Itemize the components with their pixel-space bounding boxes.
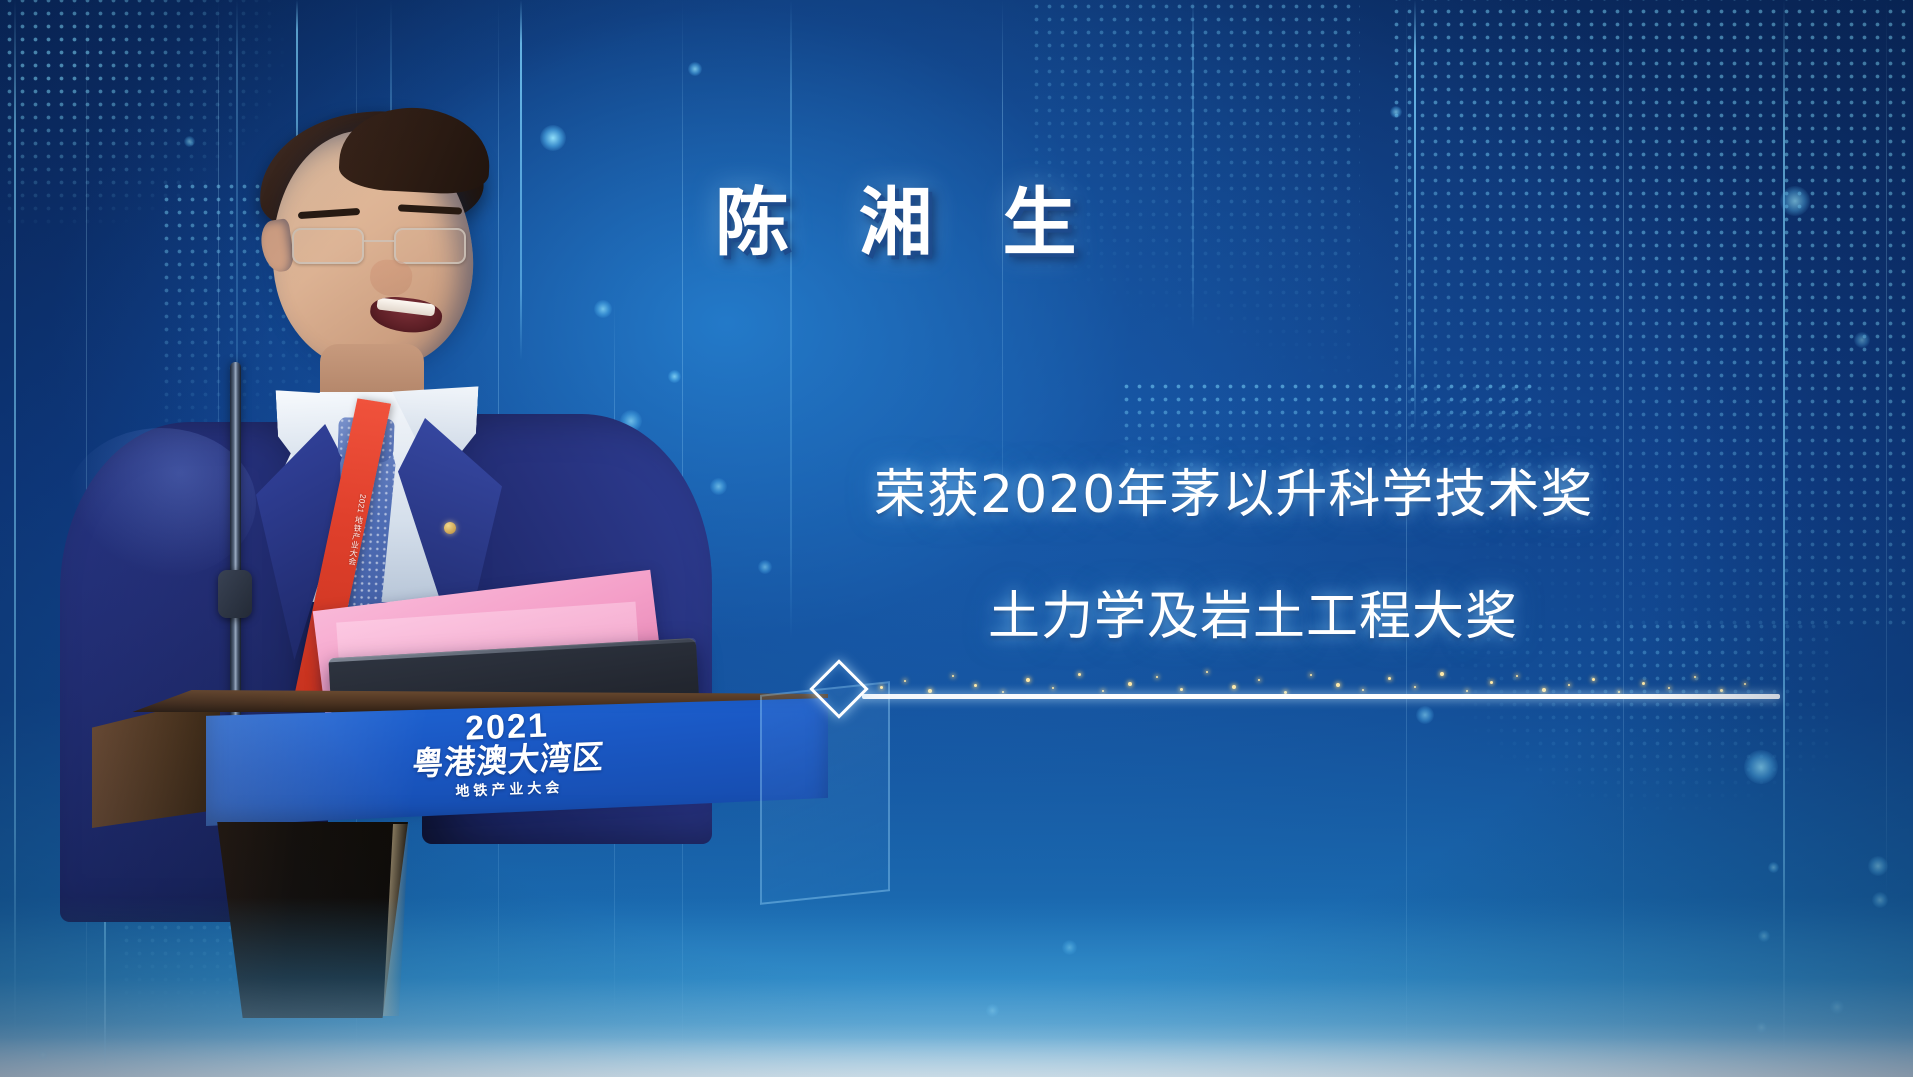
slide-canvas: 2021 地铁产业大会 ThinkPad 2021 粤港澳大湾区 地铁产业大会 … bbox=[0, 0, 1913, 1077]
bokeh-particle bbox=[1062, 940, 1077, 955]
bokeh-particle bbox=[1780, 186, 1810, 216]
bokeh-particle bbox=[38, 1050, 48, 1060]
bokeh-particle bbox=[758, 560, 772, 574]
award-line-2: 土力学及岩土工程大奖 bbox=[988, 574, 1518, 649]
lens-left bbox=[292, 228, 364, 264]
dot-matrix-pattern-top-right bbox=[1390, 0, 1913, 632]
glasses-bridge bbox=[364, 240, 394, 242]
bokeh-particle bbox=[1854, 332, 1870, 348]
suit-highlight bbox=[66, 428, 256, 578]
podium: 2021 粤港澳大湾区 地铁产业大会 bbox=[88, 690, 828, 1020]
accent-line-17 bbox=[1406, 0, 1407, 1077]
diamond-outline-icon bbox=[809, 659, 868, 718]
gold-sparkle-particles bbox=[870, 664, 1775, 696]
bokeh-particle bbox=[1872, 892, 1888, 908]
bokeh-particle bbox=[1756, 1022, 1767, 1033]
accent-line-19 bbox=[1623, 0, 1624, 1077]
accent-line-20 bbox=[1783, 0, 1785, 1077]
divider-line bbox=[862, 694, 1780, 699]
dot-matrix-pattern-bottom-right bbox=[1430, 620, 1830, 820]
decorative-divider bbox=[800, 660, 1780, 720]
bokeh-particle bbox=[1758, 930, 1770, 942]
lens-right bbox=[394, 228, 466, 264]
podium-side-panel bbox=[92, 696, 220, 828]
bokeh-particle bbox=[688, 62, 702, 76]
podium-event-logo: 2021 粤港澳大湾区 地铁产业大会 bbox=[386, 705, 629, 802]
accent-line-1 bbox=[14, 0, 16, 1040]
microphone-stand-joint bbox=[218, 570, 252, 618]
podium-column bbox=[196, 822, 408, 1018]
lapel-pin-icon bbox=[444, 522, 456, 534]
award-line-1: 荣获2020年茅以升科学技术奖 bbox=[874, 452, 1593, 527]
bokeh-particle bbox=[1768, 862, 1779, 873]
bokeh-particle bbox=[1390, 106, 1402, 118]
bokeh-particle bbox=[1744, 750, 1778, 784]
speaker-name-headline: 陈 湘 生 bbox=[715, 163, 1135, 270]
accent-line-21 bbox=[1886, 0, 1887, 900]
bokeh-particle bbox=[1830, 1000, 1844, 1014]
bokeh-particle bbox=[1868, 856, 1888, 876]
bokeh-particle bbox=[986, 1004, 999, 1017]
accent-line-18 bbox=[1414, 0, 1416, 430]
accent-line-14 bbox=[790, 0, 792, 640]
accent-line-16 bbox=[1192, 0, 1194, 330]
